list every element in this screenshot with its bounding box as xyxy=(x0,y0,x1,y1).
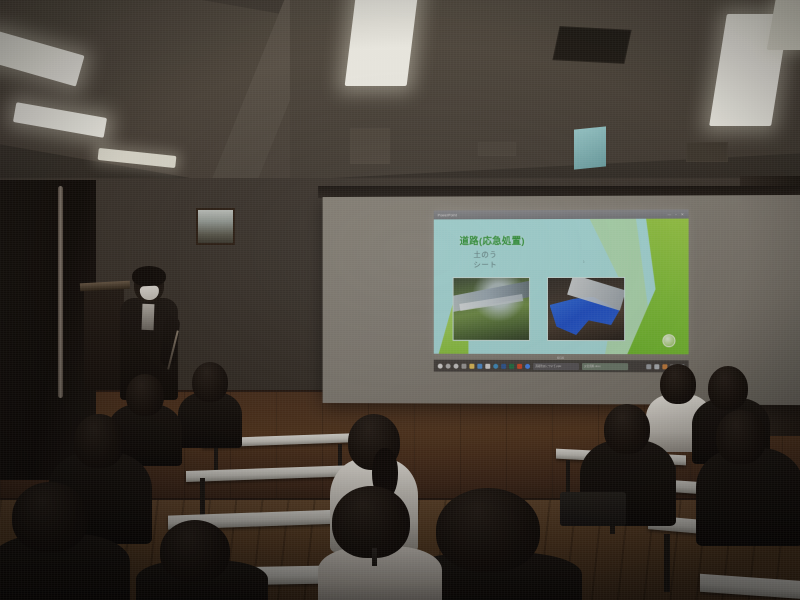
mail-icon[interactable] xyxy=(477,363,482,368)
desk-leg xyxy=(664,534,670,592)
start-icon[interactable] xyxy=(438,363,443,368)
audience-head-foreground xyxy=(436,488,540,572)
slide-annotation-mark: ﾚ xyxy=(583,259,585,265)
audience-necktie xyxy=(372,548,377,566)
audience-head xyxy=(192,362,228,402)
audience-head-foreground xyxy=(160,520,230,582)
powerpoint-icon[interactable] xyxy=(517,363,522,368)
edge-icon[interactable] xyxy=(493,363,498,368)
taskbar-window-pptx[interactable]: 道路防災について.pptx xyxy=(533,362,579,369)
audience-head-foreground xyxy=(332,486,410,558)
volume-icon[interactable] xyxy=(654,364,659,369)
ceiling-vent-3 xyxy=(478,142,516,156)
ceiling-vent-4 xyxy=(686,142,728,162)
classroom-photo: PowerPoint — ▫ ✕ 道路(応急処置) 土のう シート ﾚ 6/16 xyxy=(0,0,800,600)
desk-leg xyxy=(566,460,570,494)
ceiling-skylight-panel xyxy=(574,126,606,169)
audience-head xyxy=(716,410,766,464)
framed-picture xyxy=(196,208,235,245)
window-controls[interactable]: — ▫ ✕ xyxy=(668,212,686,216)
audience-head xyxy=(74,414,124,468)
slide-photo-right xyxy=(547,277,625,341)
audience-head xyxy=(708,366,748,410)
slide-bullet-2: シート xyxy=(473,259,497,270)
excel-icon[interactable] xyxy=(509,363,514,368)
audience-head xyxy=(126,374,164,416)
wall-conduit-pipe xyxy=(58,186,63,398)
audience-head xyxy=(604,404,650,454)
slide-title: 道路(応急処置) xyxy=(460,233,525,247)
word-icon[interactable] xyxy=(501,363,506,368)
network-icon[interactable] xyxy=(646,364,651,369)
slide-photo-left xyxy=(453,277,530,341)
cortana-icon[interactable] xyxy=(454,363,459,368)
ceiling xyxy=(0,0,800,200)
presenter-hair xyxy=(132,266,166,286)
chrome-icon[interactable] xyxy=(525,363,530,368)
search-icon[interactable] xyxy=(446,363,451,368)
windows-taskbar[interactable]: 道路防災について.pptx 災害資料.docx 11:24 xyxy=(434,360,689,373)
audience-head-foreground xyxy=(12,482,88,552)
presenter-shirt xyxy=(142,304,155,330)
projected-slide: PowerPoint — ▫ ✕ 道路(応急処置) 土のう シート ﾚ xyxy=(434,210,689,355)
slide-logo-icon xyxy=(662,334,675,347)
chair-back xyxy=(560,492,626,526)
slide-canvas: 道路(応急処置) 土のう シート ﾚ xyxy=(434,219,689,355)
store-icon[interactable] xyxy=(485,363,490,368)
audience-head xyxy=(660,364,696,404)
ceiling-vent-1 xyxy=(552,26,631,64)
taskview-icon[interactable] xyxy=(461,363,466,368)
powerpoint-window-title: PowerPoint xyxy=(438,213,457,217)
taskbar-window-docx[interactable]: 災害資料.docx xyxy=(582,363,628,370)
ceiling-vent-2 xyxy=(350,128,390,164)
explorer-icon[interactable] xyxy=(469,363,474,368)
